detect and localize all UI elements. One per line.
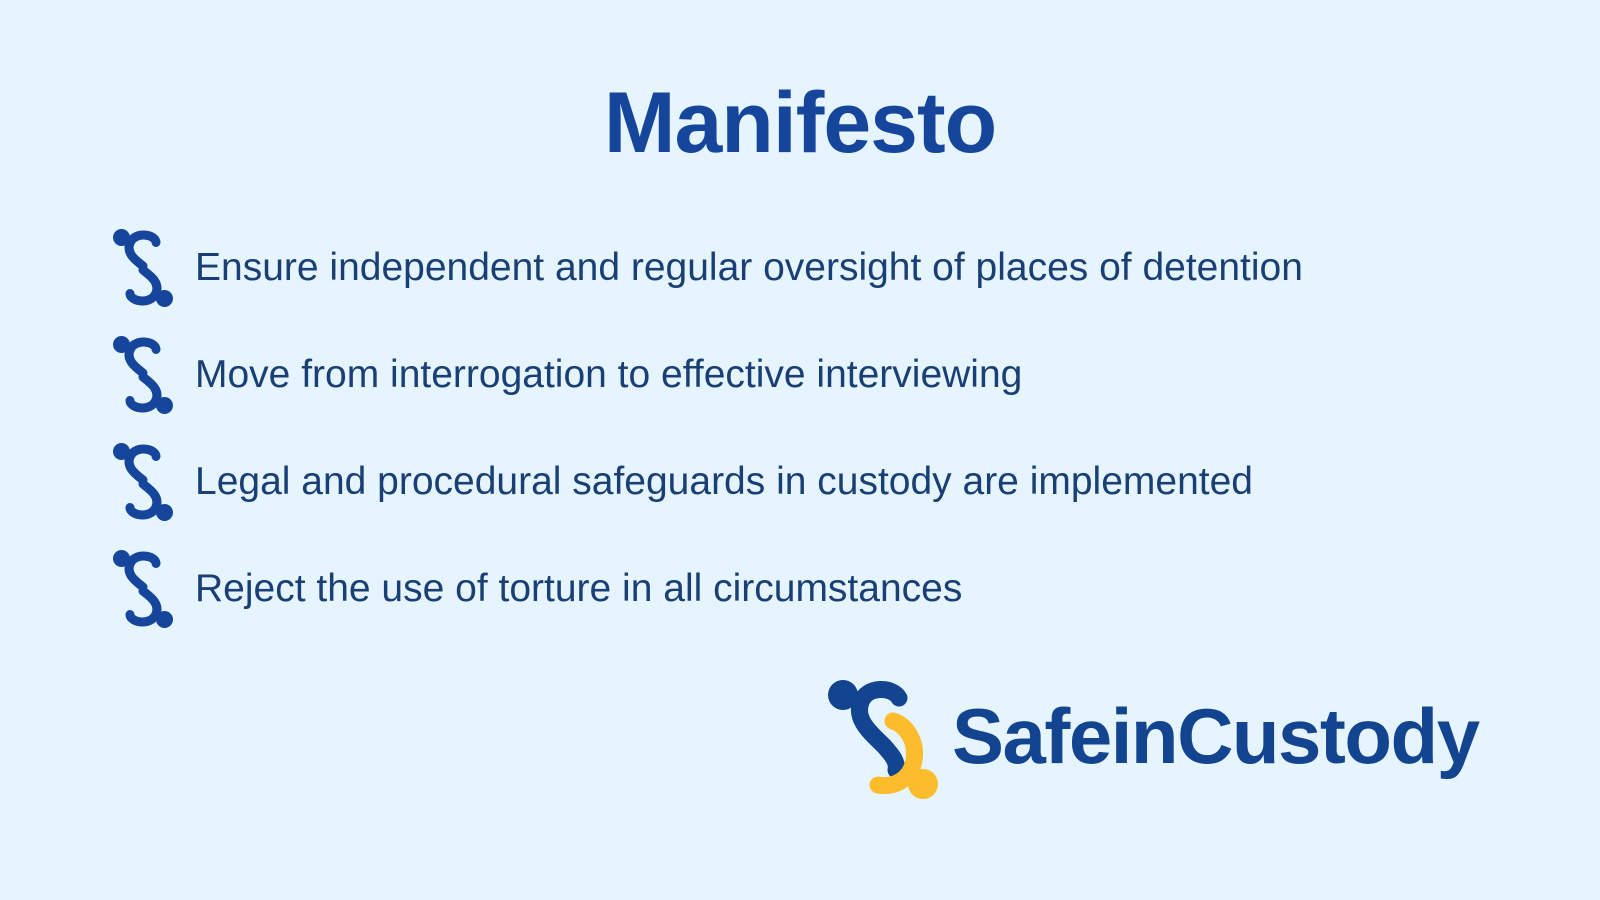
list-item: Legal and procedural safeguards in custo… bbox=[112, 442, 1532, 522]
safeincustody-logo-mark-icon bbox=[822, 668, 940, 804]
safeincustody-s-bullet-icon bbox=[112, 549, 174, 629]
page-title: Manifesto bbox=[0, 78, 1600, 168]
manifesto-list: Ensure independent and regular oversight… bbox=[112, 228, 1532, 629]
list-item: Ensure independent and regular oversight… bbox=[112, 228, 1532, 308]
safeincustody-logo: SafeinCustody bbox=[822, 668, 1479, 804]
list-item: Reject the use of torture in all circums… bbox=[112, 549, 1532, 629]
list-item-label: Move from interrogation to effective int… bbox=[195, 353, 1022, 398]
list-item-label: Legal and procedural safeguards in custo… bbox=[195, 460, 1253, 505]
safeincustody-s-bullet-icon bbox=[112, 228, 174, 308]
logo-wordmark: SafeinCustody bbox=[952, 697, 1479, 775]
list-item-label: Reject the use of torture in all circums… bbox=[195, 567, 962, 612]
list-item: Move from interrogation to effective int… bbox=[112, 335, 1532, 415]
safeincustody-s-bullet-icon bbox=[112, 335, 174, 415]
list-item-label: Ensure independent and regular oversight… bbox=[195, 246, 1303, 291]
manifesto-slide: Manifesto Ensure independent and regular… bbox=[0, 0, 1600, 900]
safeincustody-s-bullet-icon bbox=[112, 442, 174, 522]
